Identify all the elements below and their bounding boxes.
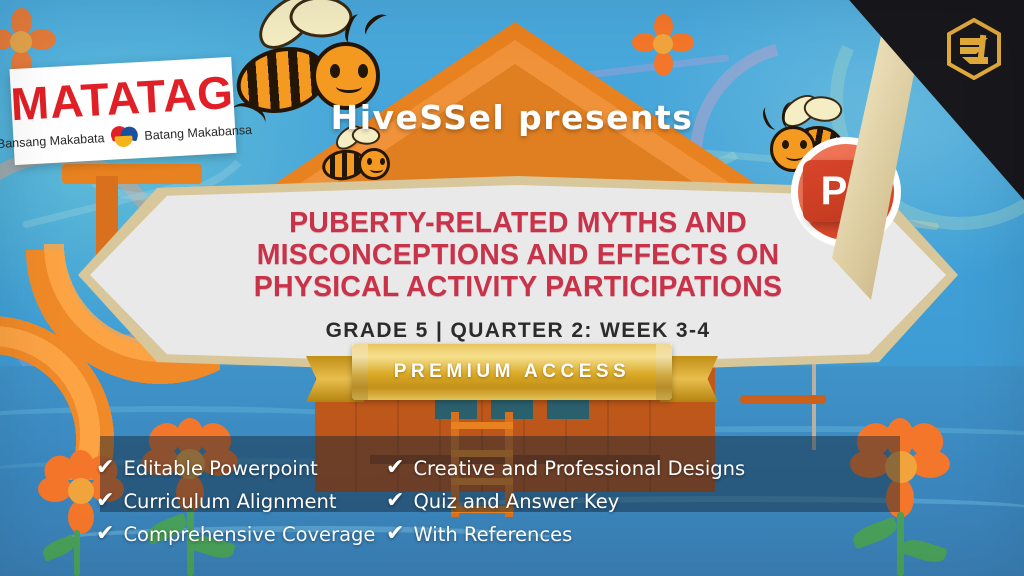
- flower-icon: [632, 14, 694, 76]
- check-icon: ✔: [96, 523, 114, 545]
- feature-label: Curriculum Alignment: [123, 490, 336, 513]
- hexagon-s-logo-icon: [946, 18, 1002, 80]
- clasped-hands-icon: [109, 125, 140, 149]
- poster-canvas: HiveSSel presents MATATAG Bansang Makaba…: [0, 0, 1024, 576]
- matatag-tagline-left: Bansang Makabata: [0, 131, 105, 151]
- check-icon: ✔: [96, 457, 114, 479]
- feature-label: With References: [413, 523, 572, 546]
- powerpoint-letter: P: [821, 171, 848, 211]
- matatag-wordmark: MATATAG: [9, 68, 235, 126]
- features-column-right: ✔ Creative and Professional Designs ✔ Qu…: [386, 457, 916, 546]
- title-line-2: MISCONCEPTIONS AND EFFECTS ON: [188, 239, 848, 271]
- matatag-tagline-right: Batang Makabansa: [144, 122, 252, 142]
- list-item: ✔ Editable Powerpoint: [96, 457, 386, 480]
- features-column-left: ✔ Editable Powerpoint ✔ Curriculum Align…: [96, 457, 386, 546]
- grade-quarter-week-subtitle: GRADE 5 | QUARTER 2: WEEK 3-4: [326, 319, 711, 343]
- list-item: ✔ Creative and Professional Designs: [386, 457, 916, 480]
- list-item: ✔ Curriculum Alignment: [96, 490, 386, 513]
- features-list: ✔ Editable Powerpoint ✔ Curriculum Align…: [96, 446, 916, 556]
- title-line-1: PUBERTY-RELATED MYTHS AND: [188, 207, 848, 239]
- feature-label: Creative and Professional Designs: [413, 457, 745, 480]
- check-icon: ✔: [386, 457, 404, 479]
- title-line-3: PHYSICAL ACTIVITY PARTICIPATIONS: [188, 271, 848, 303]
- premium-access-ribbon: PREMIUM ACCESS: [352, 344, 672, 400]
- check-icon: ✔: [96, 490, 114, 512]
- list-item: ✔ Quiz and Answer Key: [386, 490, 916, 513]
- matatag-logo: MATATAG Bansang Makabata Batang Makabans…: [9, 57, 236, 165]
- check-icon: ✔: [386, 490, 404, 512]
- ribbon-label: PREMIUM ACCESS: [394, 361, 630, 383]
- feature-label: Editable Powerpoint: [123, 457, 317, 480]
- feature-label: Comprehensive Coverage: [123, 523, 375, 546]
- list-item: ✔ Comprehensive Coverage: [96, 523, 386, 546]
- feature-label: Quiz and Answer Key: [413, 490, 619, 513]
- list-item: ✔ With References: [386, 523, 916, 546]
- check-icon: ✔: [386, 523, 404, 545]
